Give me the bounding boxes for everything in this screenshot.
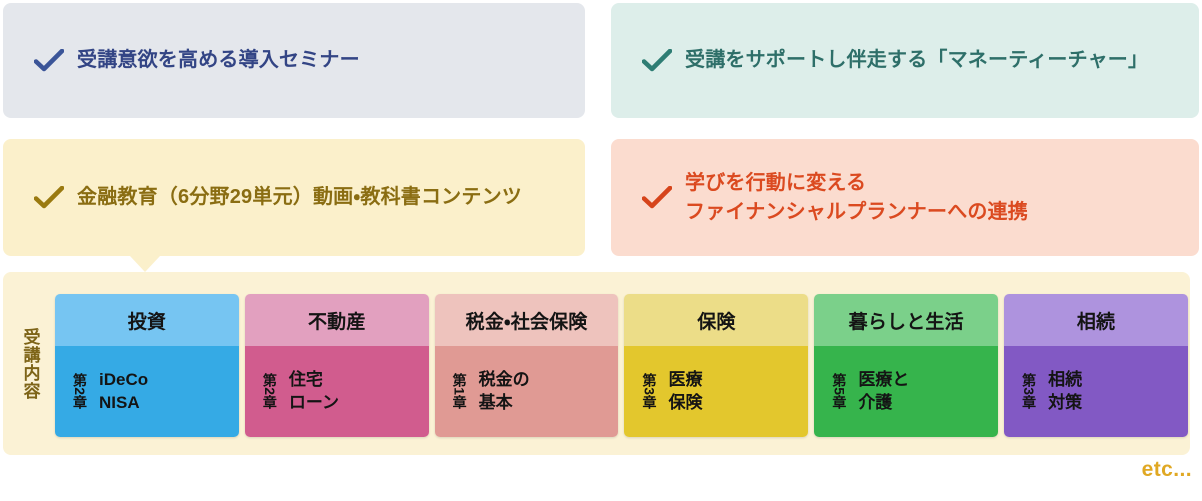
feature-card-seminar-text: 受講意欲を高める導入セミナー — [77, 46, 376, 74]
subject-chapter: 第3章 — [1022, 373, 1036, 410]
subject-title: 不動産 — [245, 294, 429, 346]
subject-chapter: 第2章 — [263, 373, 277, 410]
etc-label: etc... — [1142, 458, 1192, 482]
feature-card-contents: 金融教育（6分野29単元）動画・教科書コンテンツ — [3, 139, 585, 256]
subject-topic: 医療と 介護 — [858, 369, 909, 414]
feature-card-financial-planner: 学びを行動に変える ファイナンシャルプランナーへの連携 — [611, 139, 1199, 256]
subject-body: 第2章 住宅 ローン — [245, 346, 429, 437]
subject-body: 第3章 相続 対策 — [1004, 346, 1188, 437]
subject-title: 暮らしと生活 — [814, 294, 998, 346]
subject-topic: 住宅 ローン — [289, 369, 339, 414]
subject-chapter: 第1章 — [453, 373, 467, 410]
subject-topic: 税金の 基本 — [479, 369, 530, 414]
subject-body: 第2章 iDeCo NISA — [55, 346, 239, 437]
course-overview: 受講意欲を高める導入セミナー 受講をサポートし伴走する「マネーティーチャー」 金… — [0, 0, 1202, 501]
subject-card-living[interactable]: 暮らしと生活 第5章 医療と 介護 — [814, 294, 998, 437]
subject-card-insurance[interactable]: 保険 第3章 医療 保険 — [624, 294, 808, 437]
feature-card-financial-planner-text: 学びを行動に変える ファイナンシャルプランナーへの連携 — [685, 169, 1044, 226]
subject-body: 第5章 医療と 介護 — [814, 346, 998, 437]
subject-card-investment[interactable]: 投資 第2章 iDeCo NISA — [55, 294, 239, 437]
curriculum-label: 受講内容 — [13, 294, 47, 434]
subject-card-real-estate[interactable]: 不動産 第2章 住宅 ローン — [245, 294, 429, 437]
subject-topic: iDeCo NISA — [99, 369, 148, 414]
check-icon — [29, 49, 69, 73]
subject-chapter: 第2章 — [73, 373, 87, 410]
subject-topic: 医療 保険 — [668, 369, 702, 414]
feature-card-contents-text: 金融教育（6分野29単元）動画・教科書コンテンツ — [77, 183, 538, 211]
feature-card-money-teacher: 受講をサポートし伴走する「マネーティーチャー」 — [611, 3, 1199, 118]
subject-title: 相続 — [1004, 294, 1188, 346]
subject-chapter: 第5章 — [832, 373, 846, 410]
subject-title: 投資 — [55, 294, 239, 346]
feature-card-money-teacher-text: 受講をサポートし伴走する「マネーティーチャー」 — [685, 46, 1164, 74]
subject-chapter: 第3章 — [642, 373, 656, 410]
feature-card-seminar: 受講意欲を高める導入セミナー — [3, 3, 585, 118]
subject-card-tax-social-insurance[interactable]: 税金・社会保険 第1章 税金の 基本 — [435, 294, 619, 437]
subject-body: 第3章 医療 保険 — [624, 346, 808, 437]
subject-body: 第1章 税金の 基本 — [435, 346, 619, 437]
subject-row: 投資 第2章 iDeCo NISA 不動産 第2章 住宅 ローン 税金・社会保険… — [55, 294, 1188, 437]
pointer-triangle-icon — [130, 256, 160, 272]
subject-title: 税金・社会保険 — [435, 294, 619, 346]
check-icon — [637, 49, 677, 73]
subject-title: 保険 — [624, 294, 808, 346]
subject-card-inheritance[interactable]: 相続 第3章 相続 対策 — [1004, 294, 1188, 437]
subject-topic: 相続 対策 — [1048, 369, 1082, 414]
check-icon — [29, 186, 69, 210]
curriculum-panel: 受講内容 投資 第2章 iDeCo NISA 不動産 第2章 住宅 ローン 税金… — [3, 272, 1190, 455]
check-icon — [637, 186, 677, 210]
